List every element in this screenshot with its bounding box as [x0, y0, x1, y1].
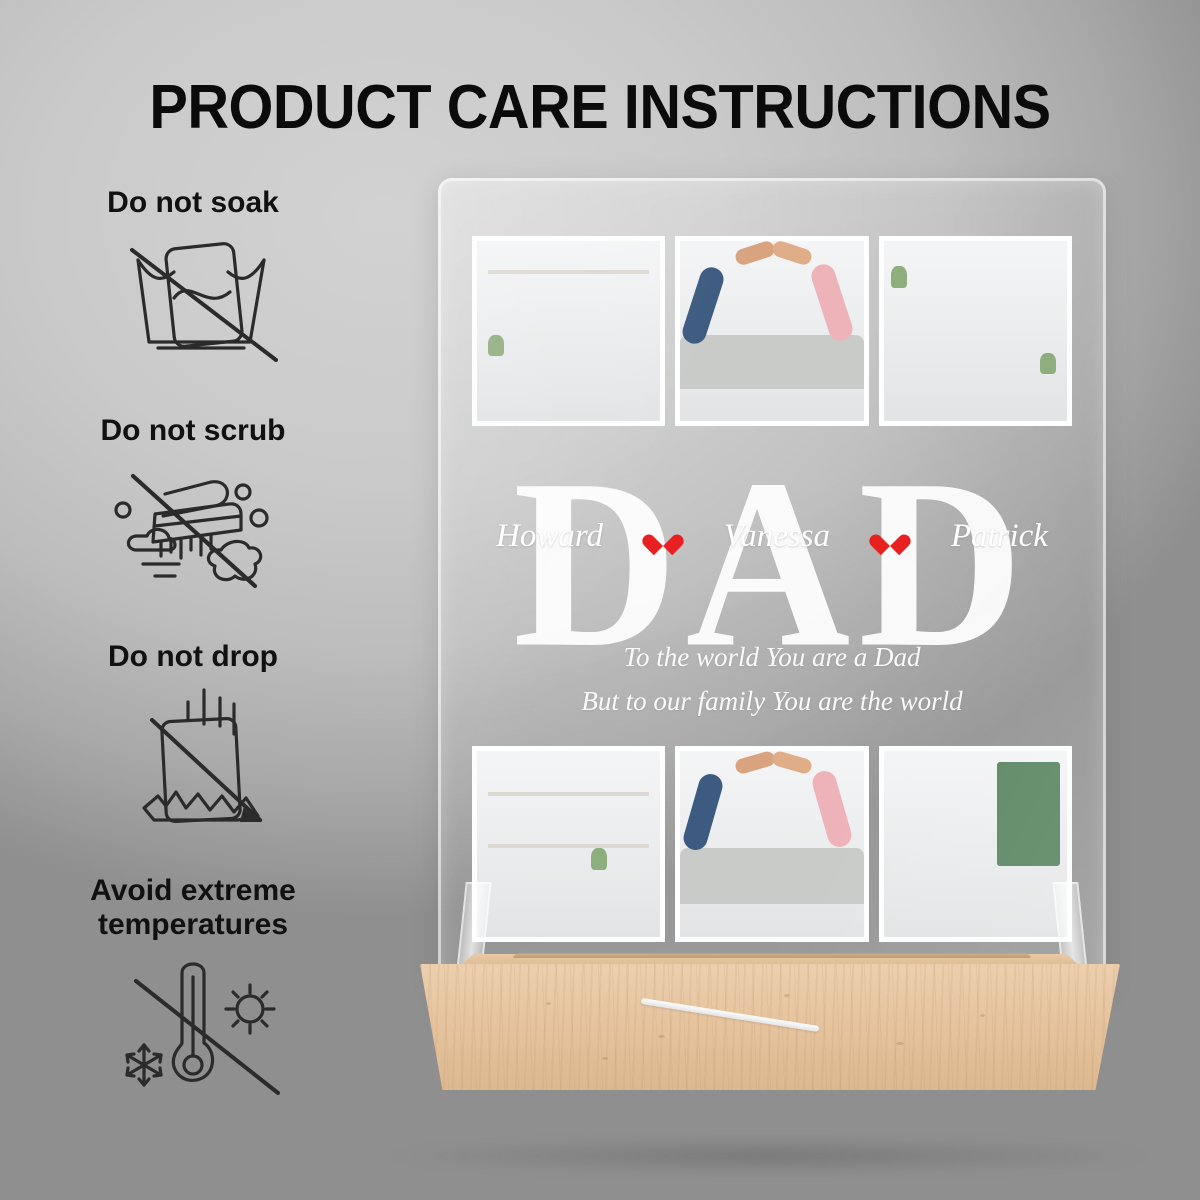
photo-thumbnail	[879, 236, 1072, 426]
acrylic-led-lamp: DAD Howard Vanessa Patrick To the world …	[400, 150, 1140, 1160]
no-scrub-icon	[103, 454, 303, 594]
product-care-instructions-image: PRODUCT CARE INSTRUCTIONS Do not soak Do…	[0, 0, 1200, 1200]
no-extreme-temperature-icon	[108, 947, 298, 1097]
heart-icon	[877, 525, 903, 549]
care-item-label: Do not soak	[28, 186, 358, 220]
photo-thumbnail	[675, 236, 868, 426]
care-item-avoid-extreme-temperatures: Avoid extreme temperatures	[28, 874, 378, 1124]
acrylic-panel: DAD Howard Vanessa Patrick To the world …	[438, 178, 1106, 990]
photo-thumbnail	[472, 236, 665, 426]
base-slot	[512, 954, 1032, 958]
names-row: Howard Vanessa Patrick	[474, 518, 1070, 555]
care-instructions-list: Do not soak Do not scrub	[28, 186, 378, 1124]
name-label: Vanessa	[724, 518, 830, 555]
name-label: Patrick	[951, 518, 1048, 555]
care-item-do-not-scrub: Do not scrub	[28, 414, 378, 640]
care-item-do-not-drop: Do not drop	[28, 640, 378, 874]
name-label: Howard	[496, 518, 603, 555]
quote-line-1: To the world You are a Dad	[478, 636, 1066, 680]
photo-row-bottom	[472, 746, 1072, 942]
heart-icon	[650, 525, 676, 549]
no-soak-icon	[118, 226, 288, 366]
photo-thumbnail	[675, 746, 868, 942]
no-drop-icon	[118, 680, 288, 830]
care-item-do-not-soak: Do not soak	[28, 186, 378, 414]
care-item-label: Do not drop	[28, 640, 358, 674]
floor-shadow	[390, 1138, 1150, 1174]
care-item-label: Avoid extreme temperatures	[28, 874, 358, 941]
photo-thumbnail	[472, 746, 665, 942]
care-item-label: Do not scrub	[28, 414, 358, 448]
quote-line-2: But to our family You are the world	[478, 680, 1066, 724]
base-front-face	[420, 964, 1120, 1090]
photo-row-top	[472, 236, 1072, 426]
page-title: PRODUCT CARE INSTRUCTIONS	[42, 72, 1158, 143]
engraved-quote: To the world You are a Dad But to our fa…	[478, 636, 1066, 723]
photo-thumbnail	[879, 746, 1072, 942]
